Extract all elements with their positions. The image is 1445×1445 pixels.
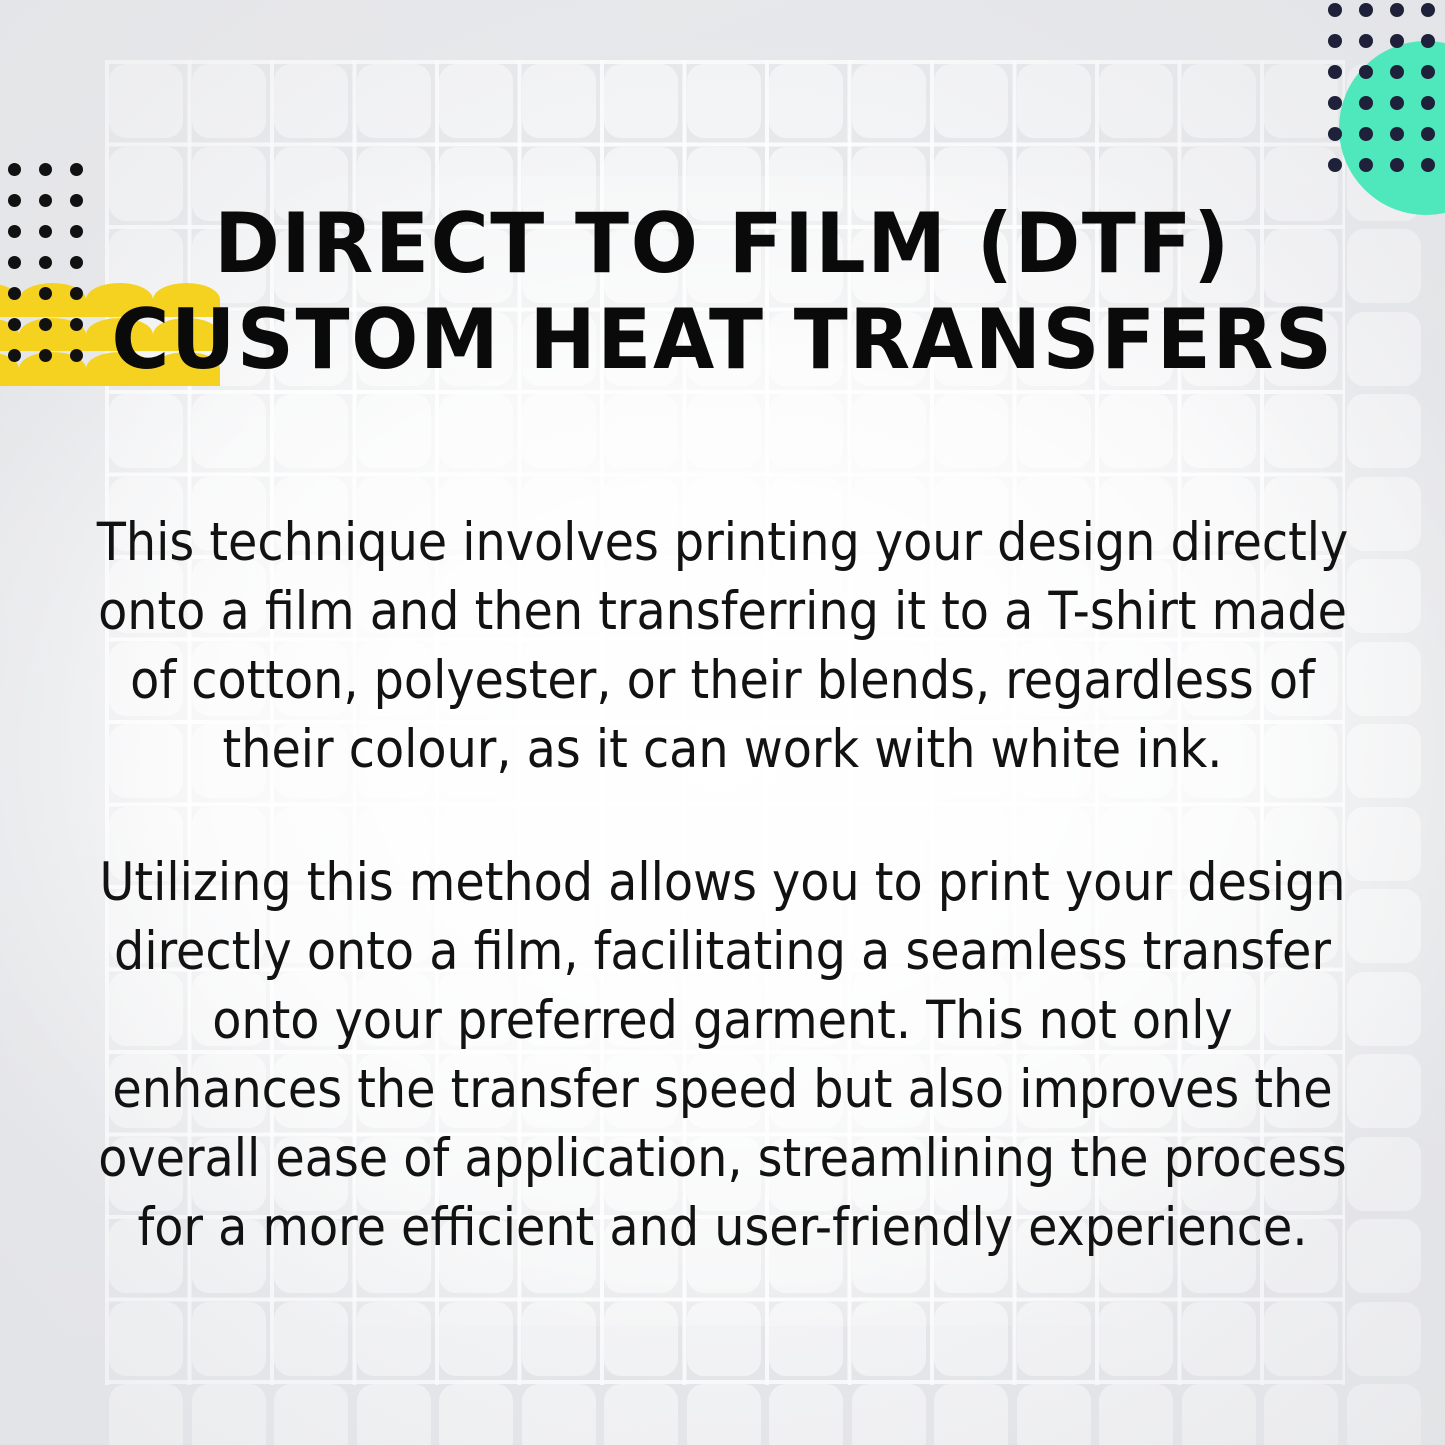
body-paragraph-1: This technique involves printing your de…	[96, 508, 1349, 784]
page-title: DIRECT TO FILM (DTF) CUSTOM HEAT TRANSFE…	[0, 196, 1445, 388]
poster-content: DIRECT TO FILM (DTF) CUSTOM HEAT TRANSFE…	[0, 0, 1445, 1445]
body-paragraph-2: Utilizing this method allows you to prin…	[96, 848, 1349, 1262]
poster-canvas: DIRECT TO FILM (DTF) CUSTOM HEAT TRANSFE…	[0, 0, 1445, 1445]
